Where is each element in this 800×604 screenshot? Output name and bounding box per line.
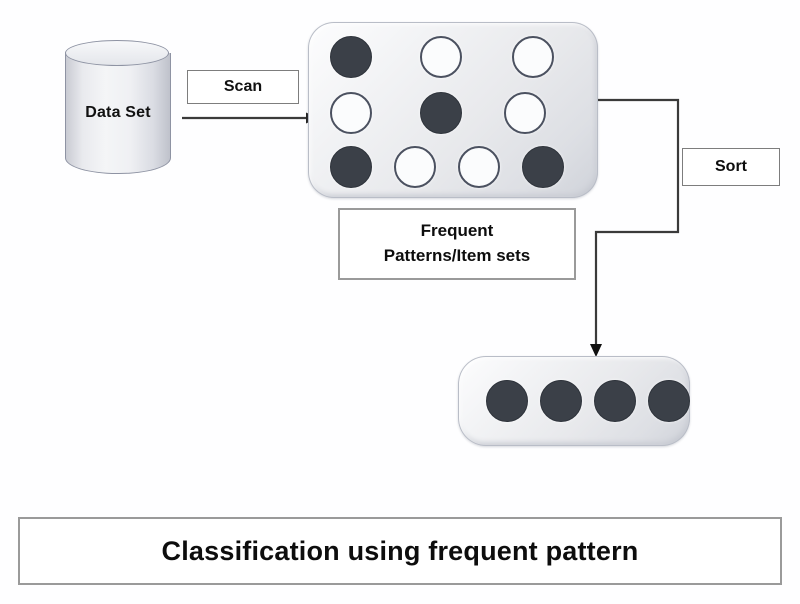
pattern-dot-light bbox=[504, 92, 546, 134]
diagram-canvas: Data Set Scan Frequent Patterns/Item set… bbox=[0, 0, 800, 604]
scan-arrow-icon bbox=[180, 104, 320, 132]
pattern-dot-light bbox=[458, 146, 500, 188]
frequent-patterns-caption-line1: Frequent bbox=[421, 219, 494, 244]
result-dot-dark bbox=[540, 380, 582, 422]
pattern-dot-light bbox=[394, 146, 436, 188]
frequent-patterns-caption-line2: Patterns/Item sets bbox=[384, 244, 530, 269]
pattern-dot-dark bbox=[420, 92, 462, 134]
data-set-label: Data Set bbox=[65, 40, 171, 186]
data-set-cylinder: Data Set bbox=[65, 40, 171, 186]
pattern-dot-light bbox=[512, 36, 554, 78]
result-dot-dark bbox=[648, 380, 690, 422]
frequent-patterns-caption-box: Frequent Patterns/Item sets bbox=[338, 208, 576, 280]
pattern-dot-light bbox=[330, 92, 372, 134]
scan-label-box: Scan bbox=[187, 70, 299, 104]
result-dot-dark bbox=[486, 380, 528, 422]
sort-label-box: Sort bbox=[682, 148, 780, 186]
result-dot-dark bbox=[594, 380, 636, 422]
pattern-dot-light bbox=[420, 36, 462, 78]
frequent-patterns-panel bbox=[308, 22, 598, 198]
classification-result-panel bbox=[458, 356, 690, 446]
pattern-dot-dark bbox=[330, 146, 372, 188]
pattern-dot-dark bbox=[330, 36, 372, 78]
pattern-dot-dark bbox=[522, 146, 564, 188]
diagram-title-box: Classification using frequent pattern bbox=[18, 517, 782, 585]
